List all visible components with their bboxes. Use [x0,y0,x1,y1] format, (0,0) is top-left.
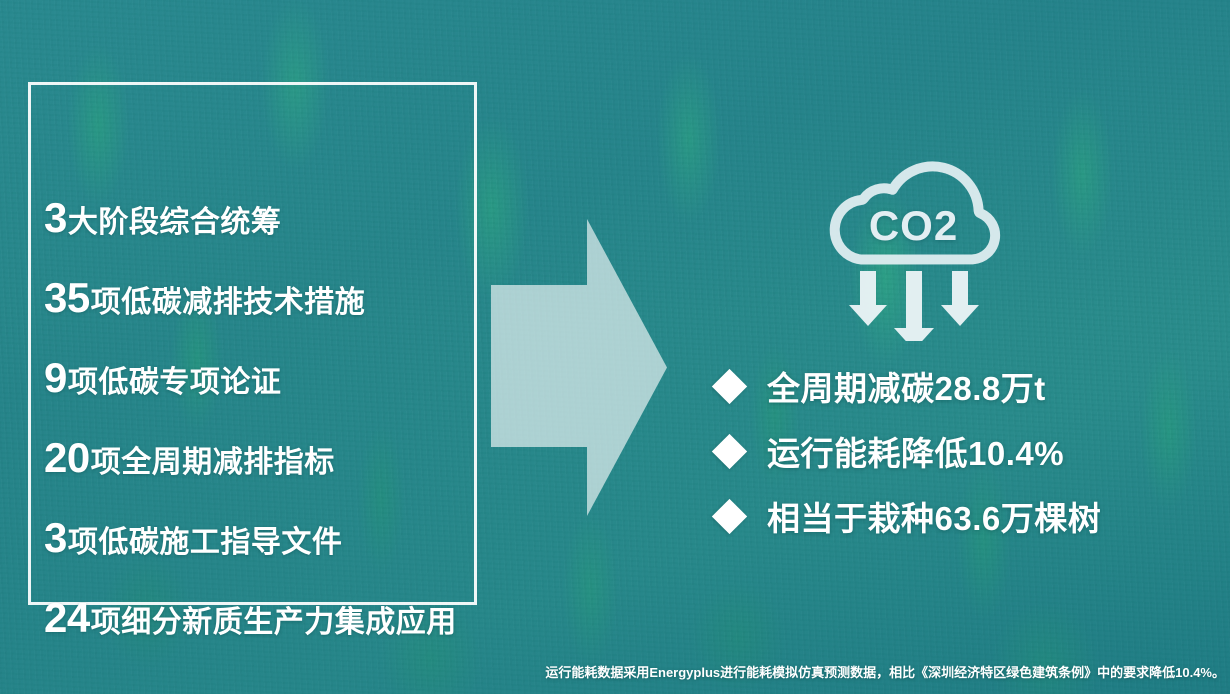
result-label: 运行能耗降低10.4% [767,427,1064,475]
diamond-bullet-icon [712,498,747,533]
stat-label: 项低碳施工指导文件 [68,528,343,558]
stat-number: 24 [44,597,90,639]
right-arrow-icon [491,219,667,516]
result-row: 相当于栽种63.6万棵树 [717,492,1101,540]
result-label: 全周期减碳28.8万t [767,362,1046,410]
stat-number: 20 [44,437,90,479]
stat-number: 9 [44,357,67,399]
stat-row: 9 项低碳专项论证 [44,357,281,399]
stat-number: 35 [44,277,90,319]
stat-label: 大阶段综合统筹 [68,208,282,238]
stat-number: 3 [44,197,67,239]
stat-row: 24 项细分新质生产力集成应用 [44,597,457,639]
result-label: 相当于栽种63.6万棵树 [767,492,1101,540]
stat-label: 项细分新质生产力集成应用 [91,608,457,638]
footnote-text: 运行能耗数据采用Energyplus进行能耗模拟仿真预测数据，相比《深圳经济特区… [455,662,1225,681]
stat-row: 20 项全周期减排指标 [44,437,335,479]
down-arrows-icon [849,271,979,341]
stat-label: 项低碳减排技术措施 [91,288,366,318]
diamond-bullet-icon [712,368,747,403]
result-row: 运行能耗降低10.4% [717,427,1064,475]
stat-row: 3 大阶段综合统筹 [44,197,281,239]
co2-text-label: CO2 [806,202,1021,250]
stat-row: 3 项低碳施工指导文件 [44,517,342,559]
diamond-bullet-icon [712,433,747,468]
co2-emission-graphic: CO2 [806,126,1021,341]
stat-number: 3 [44,517,67,559]
stat-label: 项低碳专项论证 [68,368,282,398]
stat-row: 35 项低碳减排技术措施 [44,277,365,319]
stat-label: 项全周期减排指标 [91,448,335,478]
slide-canvas: 3 大阶段综合统筹 35 项低碳减排技术措施 9 项低碳专项论证 20 项全周期… [0,0,1230,694]
result-row: 全周期减碳28.8万t [717,362,1046,410]
stats-box: 3 大阶段综合统筹 35 项低碳减排技术措施 9 项低碳专项论证 20 项全周期… [28,82,477,605]
